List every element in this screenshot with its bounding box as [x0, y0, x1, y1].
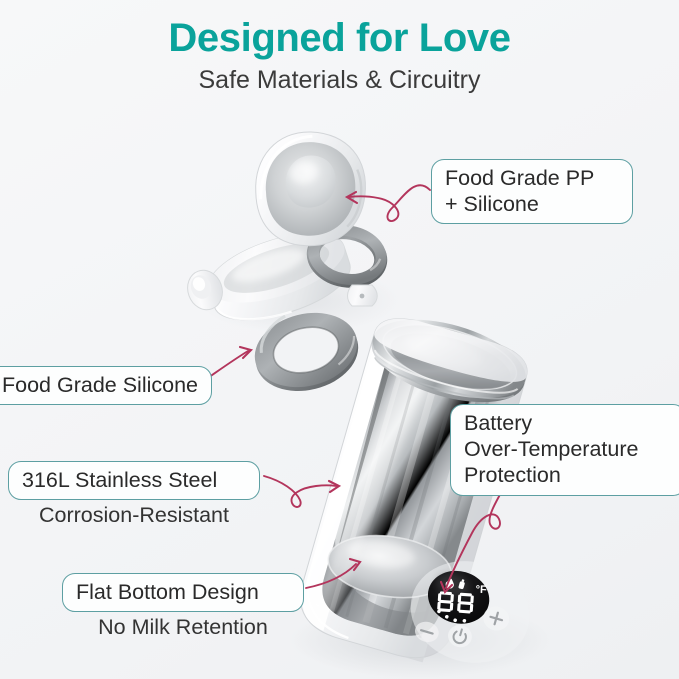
callout-box: Flat Bottom Design: [62, 573, 304, 612]
callout-line: Over-Temperature: [464, 436, 672, 462]
callout-line: Food Grade PP: [445, 165, 619, 191]
callout-line: Protection: [464, 462, 672, 488]
callout-food-grade-silicone: Food Grade Silicone: [0, 366, 212, 405]
callout-line: + Silicone: [445, 191, 619, 217]
callout-box: Battery Over-Temperature Protection: [450, 404, 679, 496]
callout-line: Food Grade Silicone: [2, 372, 198, 398]
callout-battery-over-temperature-protection: Battery Over-Temperature Protection: [450, 404, 679, 496]
callout-316l-stainless-steel: 316L Stainless Steel Corrosion-Resistant: [8, 461, 260, 529]
infographic-canvas: °F: [0, 0, 679, 679]
callout-box: Food Grade PP + Silicone: [431, 159, 633, 224]
callout-box: 316L Stainless Steel: [8, 461, 260, 500]
callout-flat-bottom-design: Flat Bottom Design No Milk Retention: [62, 573, 304, 641]
page-subtitle: Safe Materials & Circuitry: [0, 66, 679, 95]
callout-line: Battery: [464, 410, 672, 436]
svg-text:°F: °F: [475, 584, 487, 596]
lid-assembly: [182, 123, 385, 333]
callout-line: 316L Stainless Steel: [22, 467, 246, 493]
callout-line: Flat Bottom Design: [76, 579, 290, 605]
page-title: Designed for Love: [0, 17, 679, 59]
callout-food-grade-pp: Food Grade PP + Silicone: [431, 159, 633, 224]
lid-hinge: [348, 285, 378, 306]
callout-subtext: No Milk Retention: [62, 615, 304, 641]
callout-box: Food Grade Silicone: [0, 366, 212, 405]
callout-subtext: Corrosion-Resistant: [8, 503, 260, 529]
